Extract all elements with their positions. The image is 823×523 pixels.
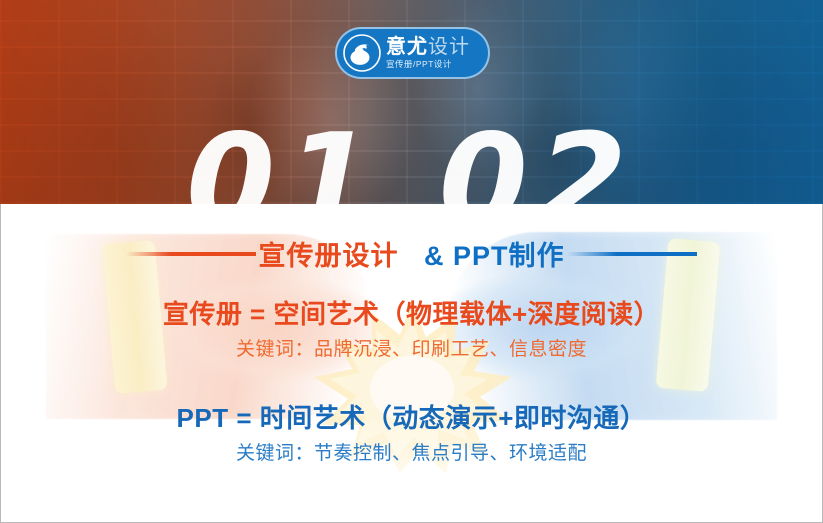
header-banner: 01 02 意尤设计 宣传册/PPT设计	[0, 0, 823, 204]
section-number: 01 02	[0, 118, 823, 204]
headline-rule-right	[567, 252, 697, 256]
ppt-title: PPT = 时间艺术（动态演示+即时沟通）	[1, 404, 822, 433]
brochure-keywords: 关键词：品牌沉浸、印刷工艺、信息密度	[1, 340, 822, 361]
logo-name: 意尤设计	[386, 37, 470, 57]
page-title-blue: & PPT制作	[424, 241, 565, 271]
brochure-title: 宣传册 = 空间艺术（物理载体+深度阅读）	[1, 300, 822, 329]
content-block-ppt: PPT = 时间艺术（动态演示+即时沟通） 关键词：节奏控制、焦点引导、环境适配	[1, 404, 822, 464]
logo-name-bold: 意尤	[386, 36, 428, 58]
headline-rule-left	[126, 252, 256, 256]
brand-logo[interactable]: 意尤设计 宣传册/PPT设计	[335, 27, 490, 79]
content-area: 宣传册设计 & PPT制作 宣传册 = 空间艺术（物理载体+深度阅读） 关键词：…	[0, 204, 823, 523]
brush-bird-logo-icon	[343, 34, 381, 72]
slide: 01 02 意尤设计 宣传册/PPT设计	[0, 0, 823, 523]
logo-name-light: 设计	[428, 36, 470, 58]
logo-text-group: 意尤设计 宣传册/PPT设计	[386, 37, 470, 69]
page-title: 宣传册设计 & PPT制作	[256, 234, 566, 273]
page-title-orange: 宣传册设计	[258, 241, 398, 271]
content-block-brochure: 宣传册 = 空间艺术（物理载体+深度阅读） 关键词：品牌沉浸、印刷工艺、信息密度	[1, 300, 822, 360]
logo-tagline: 宣传册/PPT设计	[386, 60, 470, 69]
ppt-keywords: 关键词：节奏控制、焦点引导、环境适配	[1, 444, 822, 465]
headline-row: 宣传册设计 & PPT制作	[1, 234, 822, 273]
